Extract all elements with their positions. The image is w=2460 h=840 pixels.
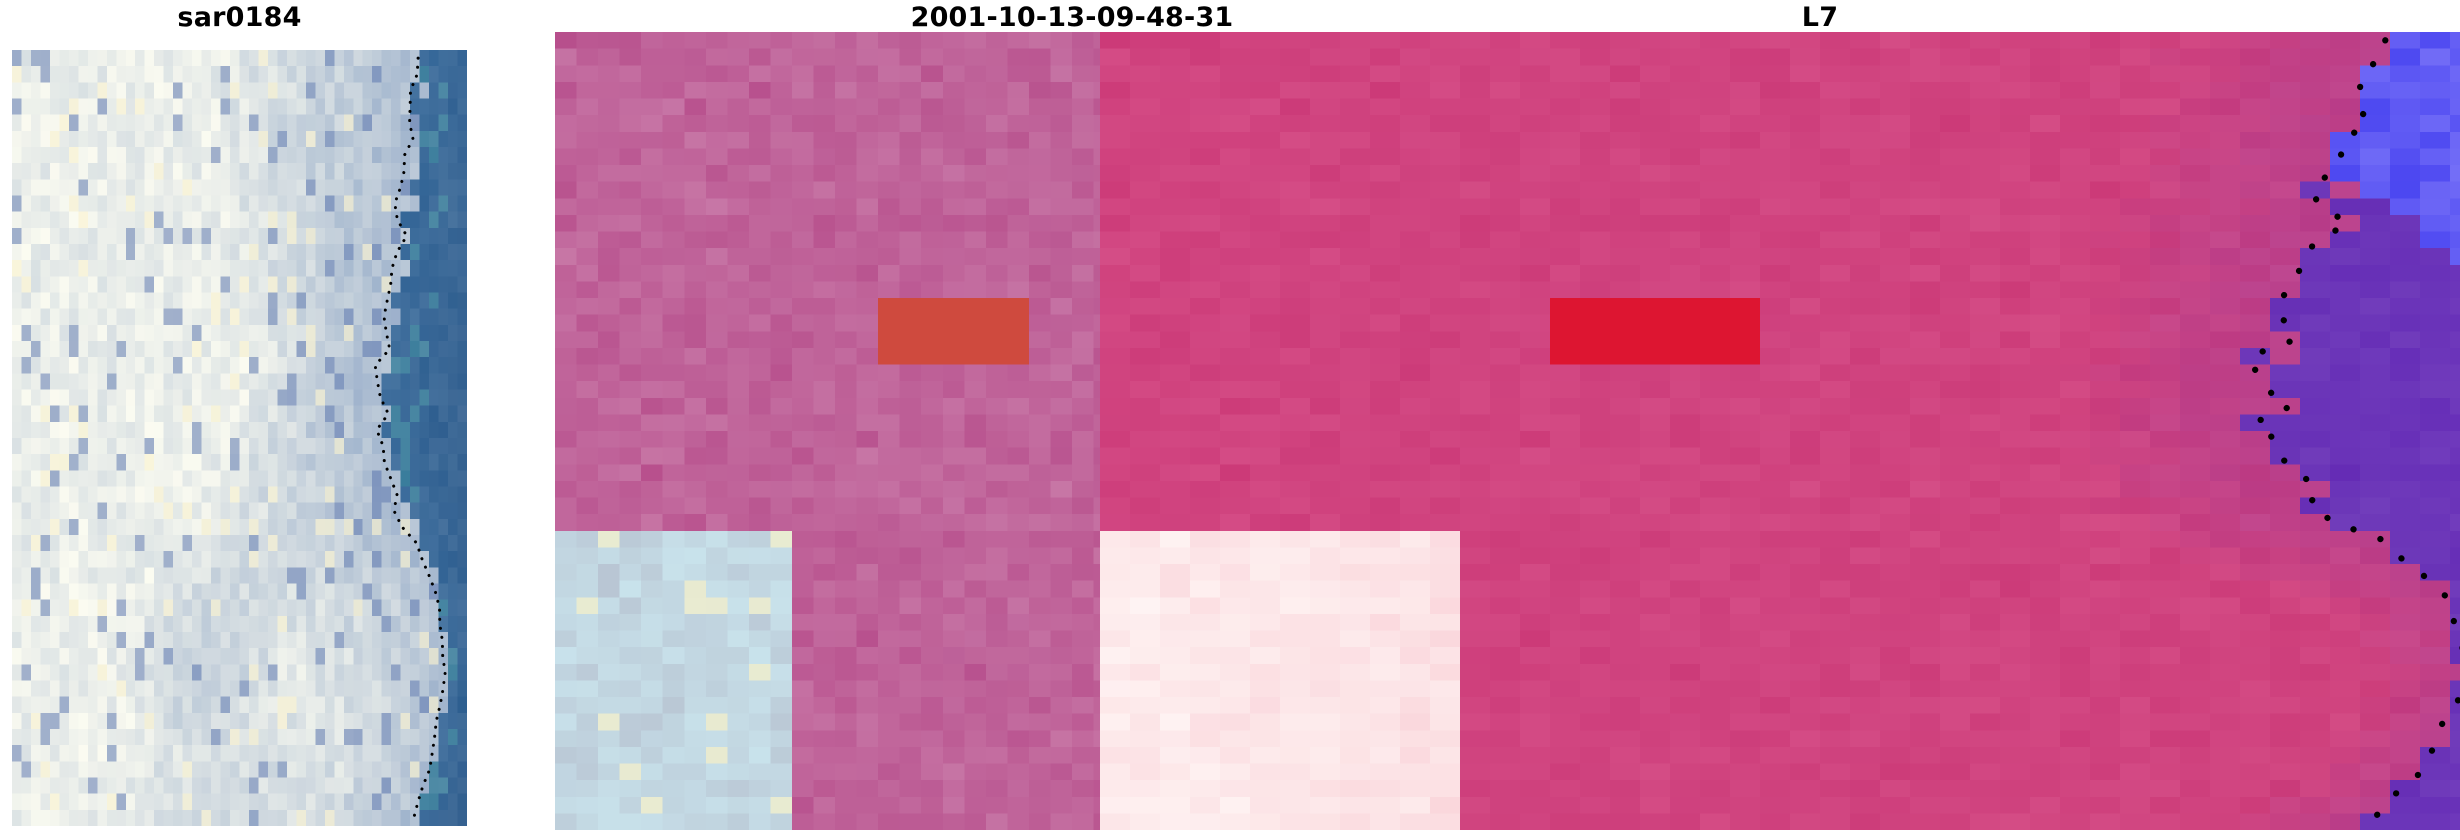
shoreline-overlay-l7	[1100, 32, 2460, 830]
figure-canvas: sar0184 2001-10-13-09-48-31 sand whitew	[0, 0, 2460, 840]
panel-sar-image[interactable]	[12, 50, 467, 826]
shoreline-overlay-sar	[12, 50, 467, 826]
panel-l7-image[interactable]	[1100, 32, 2460, 830]
panel-title-l7: L7	[1100, 2, 2460, 33]
panel-title-sar: sar0184	[12, 2, 467, 33]
